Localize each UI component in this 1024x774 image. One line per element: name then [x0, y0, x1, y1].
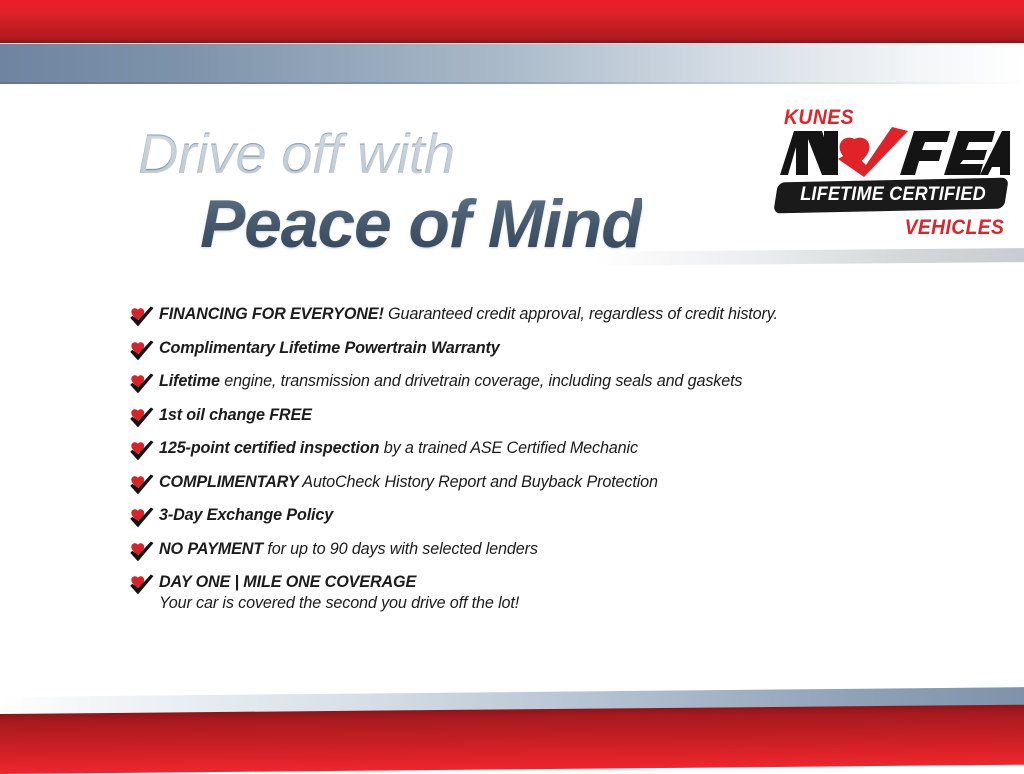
- check-heart-icon: [130, 306, 154, 328]
- bottom-red-banner-bar: [0, 705, 1024, 774]
- logo-vehicles-text: VEHICLES: [904, 216, 1004, 240]
- benefit-item: Lifetime engine, transmission and drivet…: [130, 372, 930, 395]
- benefit-headline: COMPLIMENTARY: [159, 473, 299, 491]
- check-heart-icon: [130, 407, 154, 429]
- benefit-item: DAY ONE | MILE ONE COVERAGEYour car is c…: [130, 573, 930, 613]
- logo-nofear-wordmark: [774, 125, 1010, 177]
- benefit-item: Complimentary Lifetime Powertrain Warran…: [130, 339, 930, 362]
- benefit-item: 1st oil change FREE: [130, 406, 930, 429]
- headline-line-2: Peace of Mind: [200, 190, 642, 258]
- benefit-text: Lifetime engine, transmission and drivet…: [159, 372, 742, 391]
- benefit-detail: by a trained ASE Certified Mechanic: [379, 439, 638, 457]
- benefit-text: 1st oil change FREE: [159, 406, 312, 425]
- check-heart-icon: [130, 507, 154, 529]
- headline-line-1: Drive off with: [138, 126, 642, 182]
- benefit-text: Complimentary Lifetime Powertrain Warran…: [159, 339, 500, 358]
- benefit-headline: 125-point certified inspection: [159, 439, 379, 457]
- benefit-item: NO PAYMENT for up to 90 days with select…: [130, 540, 930, 563]
- top-gray-gradient-bar: [0, 44, 1024, 84]
- check-heart-icon: [130, 574, 154, 596]
- benefit-item: 125-point certified inspection by a trai…: [130, 439, 930, 462]
- benefit-detail: for up to 90 days with selected lenders: [263, 540, 538, 558]
- check-heart-icon: [130, 440, 154, 462]
- benefit-item: COMPLIMENTARY AutoCheck History Report a…: [130, 473, 930, 496]
- top-red-banner-bar: [0, 0, 1024, 43]
- red-check-heart-icon: [834, 127, 908, 177]
- benefit-item: 3-Day Exchange Policy: [130, 506, 930, 529]
- benefit-headline: DAY ONE | MILE ONE COVERAGE: [159, 573, 416, 591]
- benefit-headline: 1st oil change FREE: [159, 406, 312, 424]
- benefit-subtext: Your car is covered the second you drive…: [159, 594, 519, 613]
- check-heart-icon: [130, 340, 154, 362]
- benefit-detail: engine, transmission and drivetrain cove…: [220, 372, 743, 390]
- check-heart-icon: [130, 541, 154, 563]
- benefit-item: FINANCING FOR EVERYONE! Guaranteed credi…: [130, 305, 930, 328]
- benefit-headline: NO PAYMENT: [159, 540, 263, 558]
- logo-certified-text: LIFETIME CERTIFIED: [788, 184, 999, 206]
- benefit-detail: Guaranteed credit approval, regardless o…: [384, 305, 778, 323]
- benefit-text: DAY ONE | MILE ONE COVERAGE: [159, 573, 519, 592]
- benefit-headline: FINANCING FOR EVERYONE!: [159, 305, 384, 323]
- page-title: Drive off with Peace of Mind: [138, 126, 642, 258]
- kunes-no-fear-logo: KUNES LIFETIME CERTIFIED VEHICLES: [772, 106, 1010, 248]
- benefit-text: NO PAYMENT for up to 90 days with select…: [159, 540, 538, 559]
- benefit-detail: AutoCheck History Report and Buyback Pro…: [299, 473, 658, 491]
- check-heart-icon: [130, 474, 154, 496]
- check-heart-icon: [130, 373, 154, 395]
- benefit-text: 125-point certified inspection by a trai…: [159, 439, 638, 458]
- benefit-text: 3-Day Exchange Policy: [159, 506, 333, 525]
- benefit-headline: Complimentary Lifetime Powertrain Warran…: [159, 339, 500, 357]
- benefit-headline: Lifetime: [159, 372, 220, 390]
- benefit-text: COMPLIMENTARY AutoCheck History Report a…: [159, 473, 658, 492]
- benefits-list: FINANCING FOR EVERYONE! Guaranteed credi…: [130, 305, 930, 624]
- benefit-headline: 3-Day Exchange Policy: [159, 506, 333, 524]
- benefit-text: FINANCING FOR EVERYONE! Guaranteed credi…: [159, 305, 778, 324]
